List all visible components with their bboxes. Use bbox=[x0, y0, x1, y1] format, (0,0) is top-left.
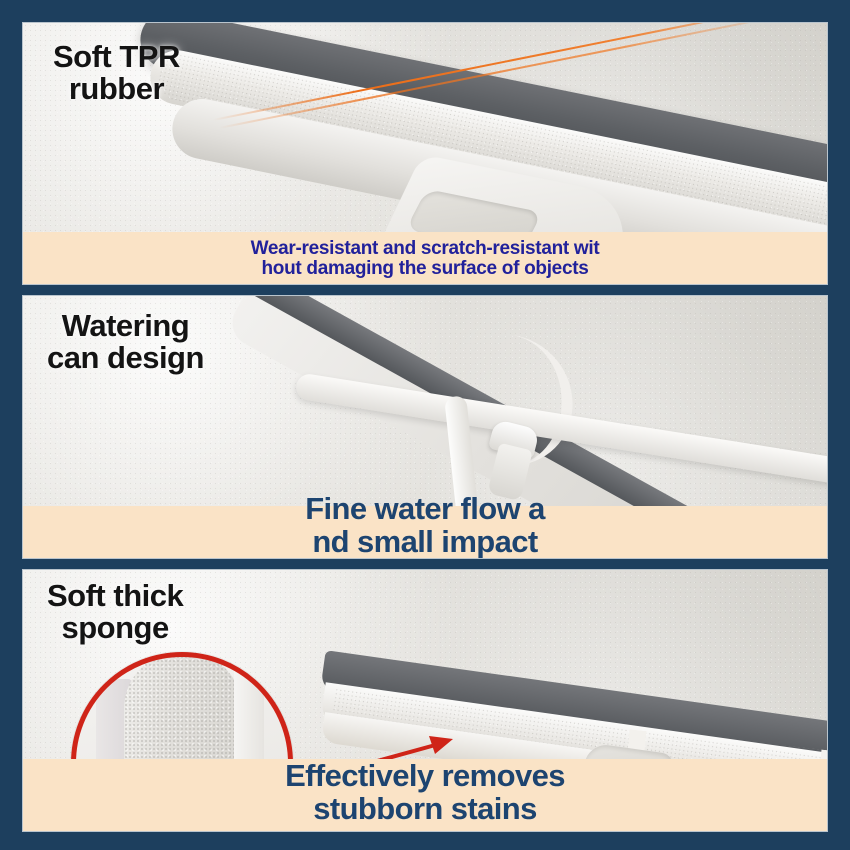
feature-panel-soft-thick-sponge: Soft thick sponge Effectively removes st… bbox=[22, 569, 828, 832]
panel-1-heading: Soft TPR rubber bbox=[53, 41, 180, 105]
panel-1-caption-text: Wear-resistant and scratch-resistant wit… bbox=[251, 239, 600, 279]
panel-2-caption-text: Fine water flow a nd small impact bbox=[305, 493, 545, 558]
feature-panel-soft-tpr-rubber: Soft TPR rubber Wear-resistant and scrat… bbox=[22, 22, 828, 285]
feature-panel-watering-can-design: Watering can design Fine water flow a nd… bbox=[22, 295, 828, 558]
panel-2-heading: Watering can design bbox=[47, 310, 204, 374]
panel-2-caption-band: Fine water flow a nd small impact bbox=[23, 506, 827, 558]
panel-1-caption-band: Wear-resistant and scratch-resistant wit… bbox=[23, 232, 827, 284]
panel-3-caption-text: Effectively removes stubborn stains bbox=[285, 760, 565, 825]
panel-3-heading: Soft thick sponge bbox=[47, 580, 183, 644]
panel-3-caption-band: Effectively removes stubborn stains bbox=[23, 759, 827, 831]
product-feature-poster: Soft TPR rubber Wear-resistant and scrat… bbox=[0, 0, 850, 850]
